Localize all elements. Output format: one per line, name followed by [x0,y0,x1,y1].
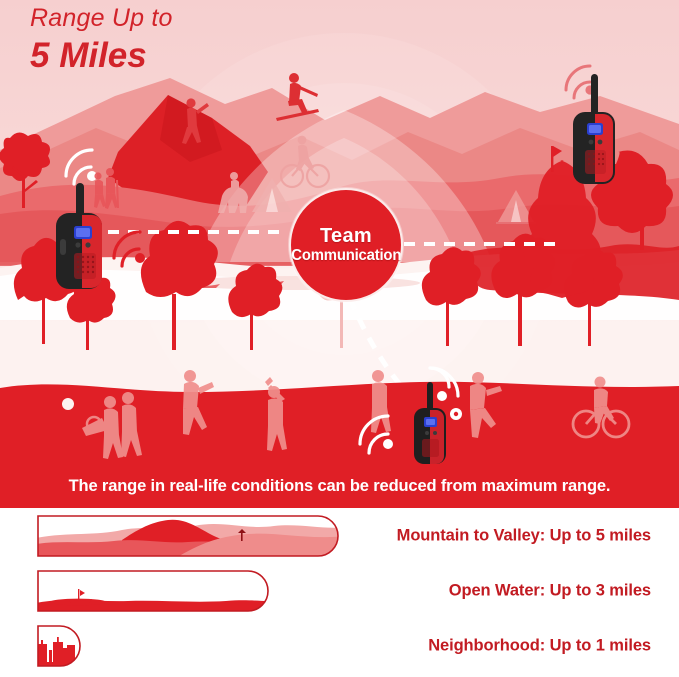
range-bar-mountain [36,514,346,563]
badge-line-2: Communication [291,247,401,265]
walkie-talkie-left [48,183,112,296]
range-label-neighborhood: Neighborhood: Up to 1 miles [428,637,651,656]
page-title: 5 Miles [30,36,147,76]
disclaimer-banner: The range in real-life conditions can be… [0,465,679,508]
infographic-page: Range Up to 5 Miles Team Communication T… [0,0,679,677]
range-label-mountain: Mountain to Valley: Up to 5 miles [397,527,651,546]
range-bar-water [36,569,276,618]
range-row-neighborhood: Neighborhood: Up to 1 miles [0,618,679,674]
badge-line-1: Team [320,226,372,246]
range-label-water: Open Water: Up to 3 miles [449,582,651,601]
walkie-talkie-right [565,74,623,191]
walkie-talkie-bottom [408,382,452,465]
eyebrow-text: Range Up to [30,4,173,33]
range-bar-city [36,624,96,673]
range-row-mountain-to-valley: Mountain to Valley: Up to 5 miles [0,508,679,564]
disclaimer-text: The range in real-life conditions can be… [69,477,611,496]
range-comparison-list: Mountain to Valley: Up to 5 miles [0,508,679,677]
range-row-open-water: Open Water: Up to 3 miles [0,563,679,619]
team-communication-badge: Team Communication [289,188,403,302]
tree-icon [0,132,50,208]
